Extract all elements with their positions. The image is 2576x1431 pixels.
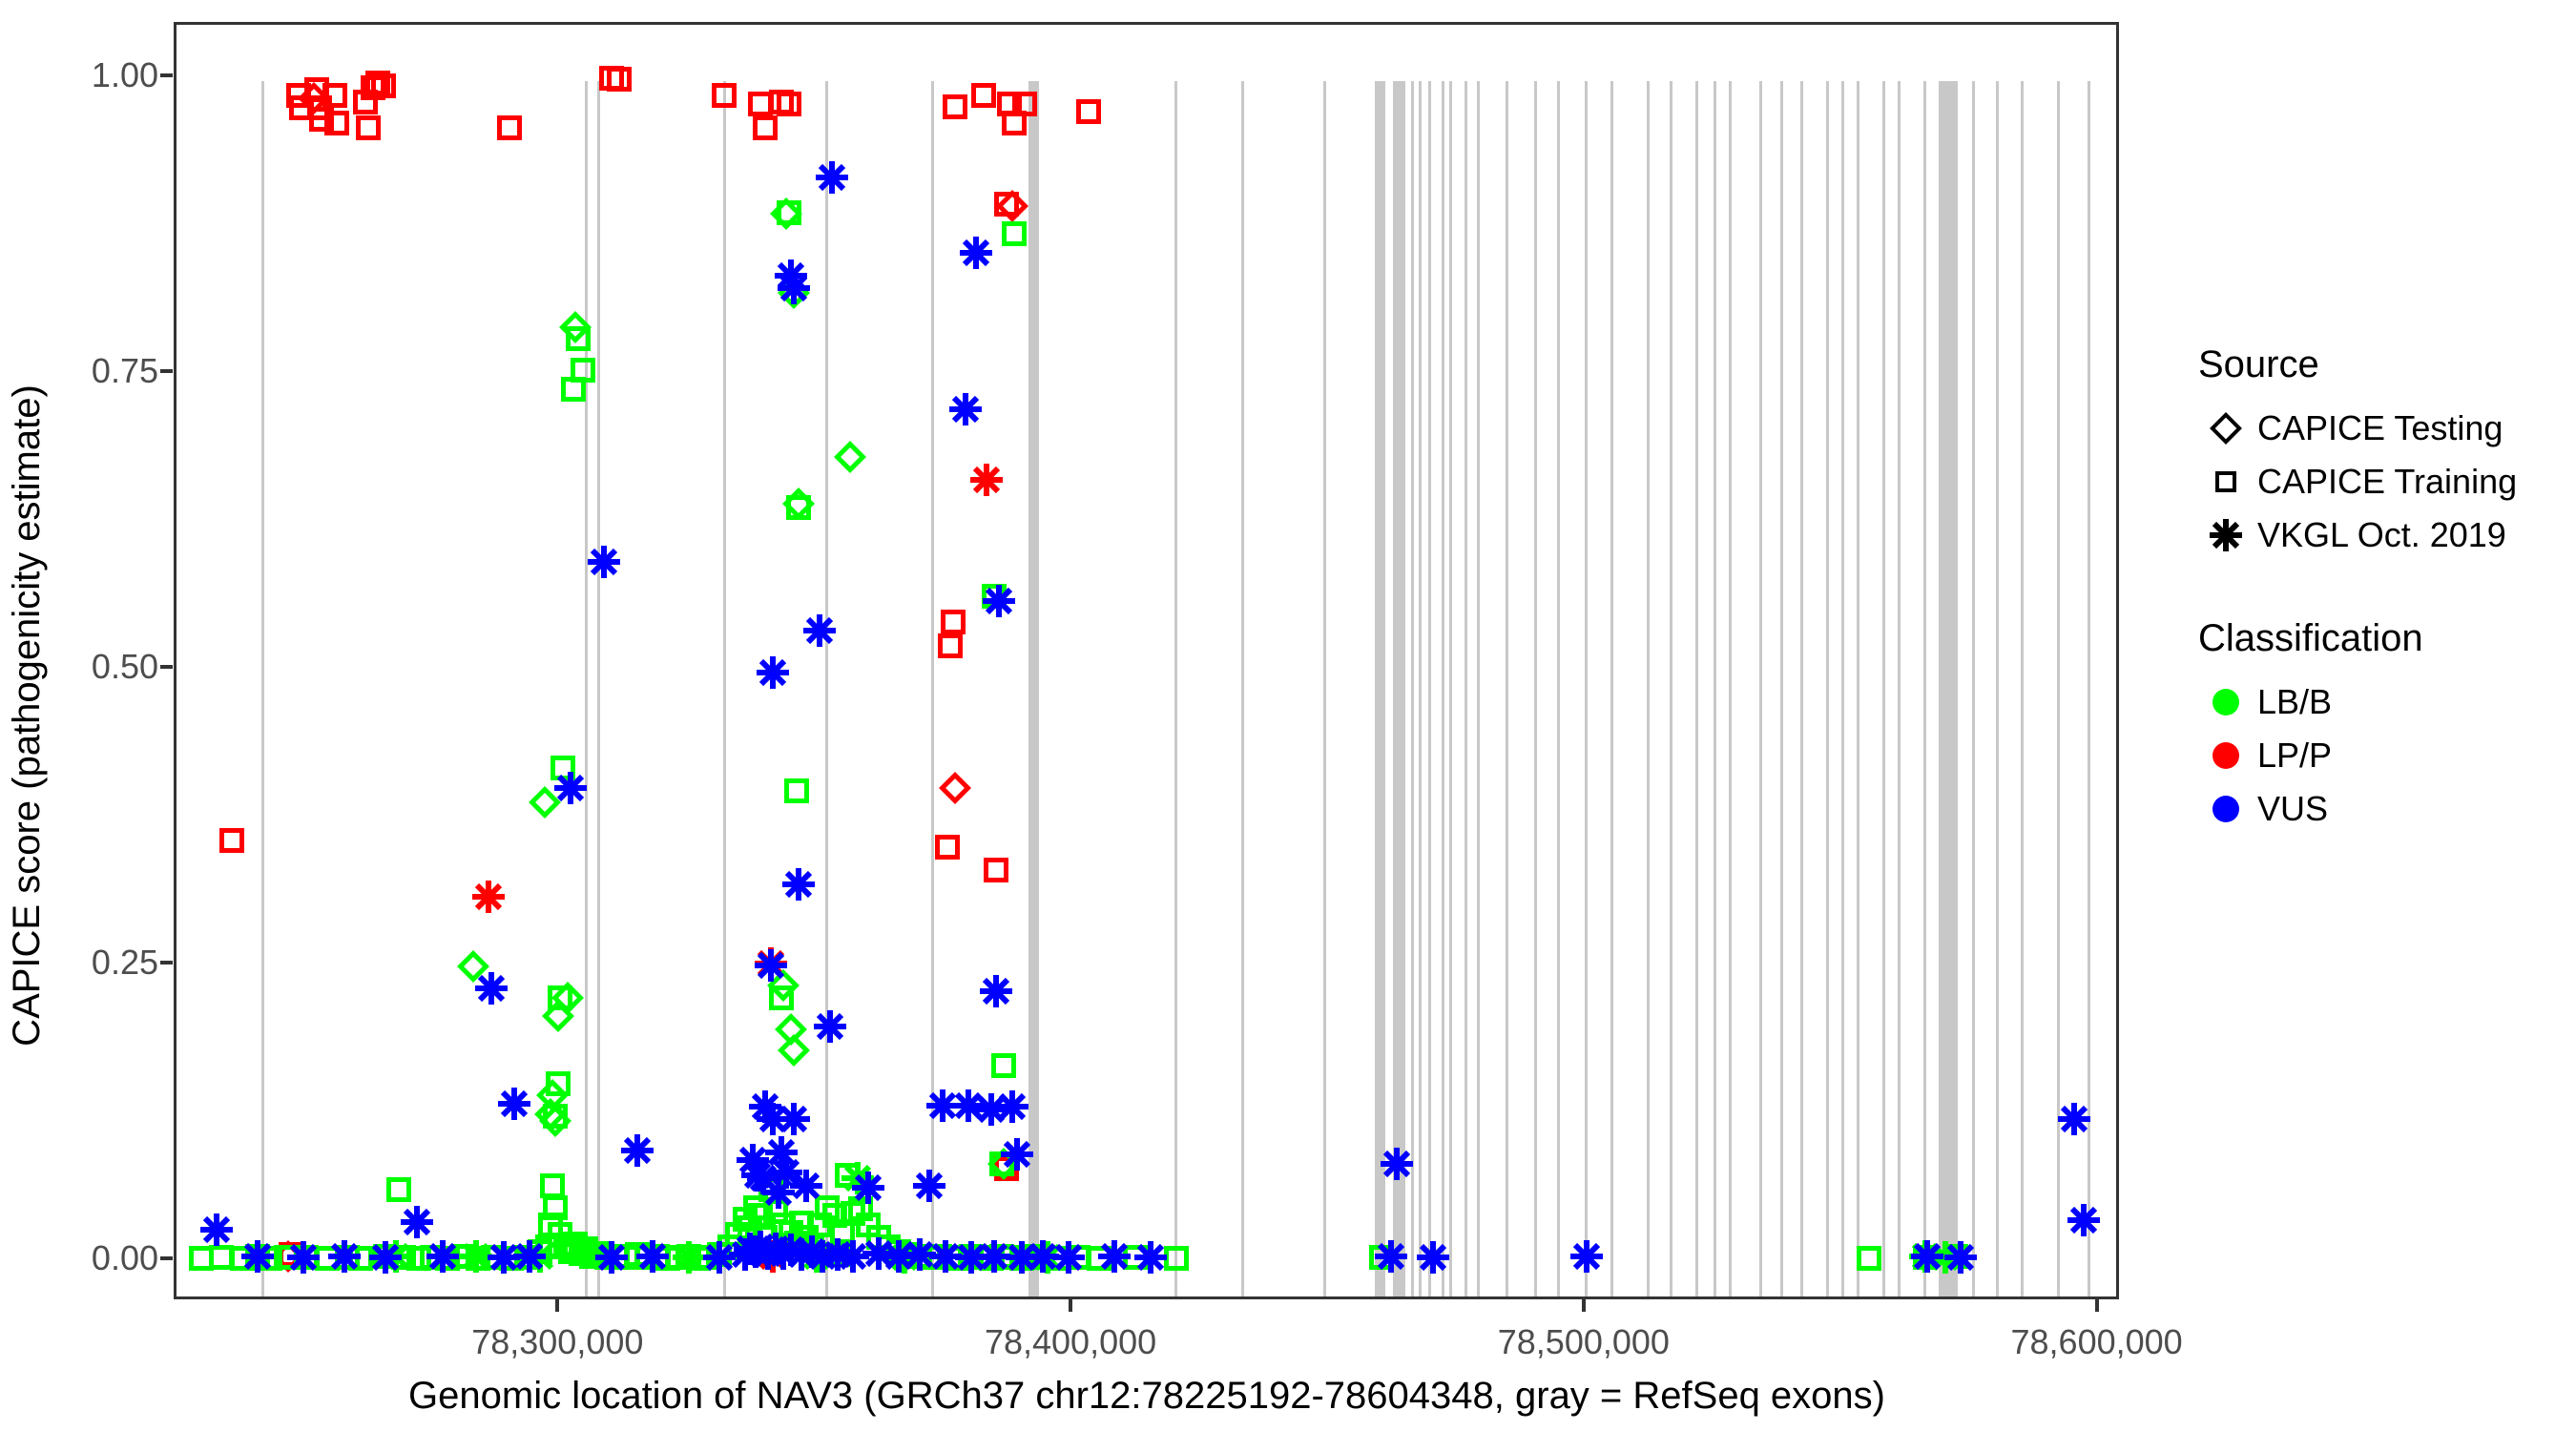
- legend-source-item-2[interactable]: VKGL Oct. 2019: [2194, 508, 2576, 562]
- scatter-point: [784, 778, 809, 803]
- scatter-point: [960, 237, 992, 269]
- y-tick-mark: [160, 665, 173, 669]
- scatter-point: [1164, 1246, 1189, 1271]
- scatter-point: [371, 73, 396, 98]
- scatter-point: [472, 881, 505, 913]
- x-tick-label: 78,300,000: [395, 1322, 719, 1362]
- scatter-point: [970, 464, 1003, 496]
- scatter-point: [2058, 1103, 2090, 1135]
- scatter-point: [757, 656, 789, 689]
- x-tick-label: 78,500,000: [1422, 1322, 1746, 1362]
- scatter-point: [996, 1090, 1028, 1123]
- y-tick-label: 0.50: [0, 647, 158, 685]
- legend-item-label: VKGL Oct. 2019: [2257, 515, 2506, 555]
- scatter-point: [803, 614, 836, 647]
- scatter-point: [983, 585, 1015, 617]
- chart-figure: CAPICE score (pathogenicity estimate) Ge…: [0, 0, 2576, 1431]
- scatter-point: [762, 1176, 795, 1209]
- legend-item-label: LP/P: [2257, 736, 2332, 776]
- dot-icon: [2194, 675, 2257, 729]
- x-tick-label: 78,600,000: [1935, 1322, 2259, 1362]
- scatter-point: [588, 546, 620, 578]
- scatter-point: [814, 1010, 846, 1043]
- x-tick-mark: [1582, 1299, 1586, 1312]
- scatter-point: [475, 972, 508, 1005]
- scatter-point: [1098, 1240, 1131, 1273]
- y-tick-mark: [160, 1256, 173, 1260]
- scatter-point: [241, 1240, 274, 1273]
- legend-classification-items: LB/BLP/PVUS: [2194, 675, 2576, 836]
- scatter-point: [984, 858, 1008, 882]
- scatter-point: [943, 94, 967, 119]
- diamond-outline-icon: [2194, 402, 2257, 455]
- scatter-point: [913, 1170, 945, 1202]
- scatter-point: [595, 1241, 628, 1274]
- x-tick-mark: [1069, 1299, 1072, 1312]
- y-axis-title: CAPICE score (pathogenicity estimate): [0, 0, 53, 1431]
- scatter-point: [513, 1240, 546, 1273]
- scatter-point: [782, 868, 815, 901]
- scatter-point: [1911, 1240, 1943, 1273]
- y-tick-label: 0.00: [0, 1238, 158, 1276]
- scatter-point: [561, 377, 586, 402]
- scatter-point: [778, 272, 810, 304]
- scatter-point: [1134, 1241, 1167, 1274]
- scatter-point: [777, 92, 801, 116]
- scatter-point: [1001, 1138, 1033, 1171]
- scatter-point: [324, 111, 349, 135]
- scatter-point: [991, 1053, 1016, 1078]
- scatter-point: [386, 1177, 411, 1202]
- scatter-point: [755, 949, 787, 982]
- scatter-point: [753, 115, 778, 140]
- scatter-point: [636, 1240, 669, 1273]
- scatter-point: [219, 828, 244, 853]
- legend-item-label: LB/B: [2257, 682, 2332, 722]
- scatter-point: [621, 1134, 654, 1167]
- scatter-point: [2067, 1204, 2100, 1236]
- legend-item-label: CAPICE Testing: [2257, 408, 2503, 448]
- scatter-point: [778, 1034, 810, 1067]
- legend-classification-item-1[interactable]: LP/P: [2194, 729, 2576, 782]
- scatter-point: [673, 1241, 705, 1274]
- legend: Source CAPICE TestingCAPICE TrainingVKGL…: [2194, 343, 2576, 836]
- x-tick-mark: [2095, 1299, 2099, 1312]
- scatter-point: [1570, 1240, 1603, 1273]
- x-tick-mark: [555, 1299, 559, 1312]
- legend-item-label: CAPICE Training: [2257, 462, 2517, 502]
- x-tick-label: 78,400,000: [908, 1322, 1233, 1362]
- scatter-point: [712, 83, 737, 108]
- legend-classification-title: Classification: [2198, 617, 2576, 660]
- legend-classification-item-0[interactable]: LB/B: [2194, 675, 2576, 729]
- scatter-point: [1375, 1240, 1407, 1273]
- scatter-point: [1381, 1148, 1413, 1180]
- scatter-point: [980, 975, 1012, 1007]
- legend-spacer: [2194, 562, 2576, 617]
- scatter-point: [1417, 1241, 1449, 1274]
- scatter-point: [938, 633, 963, 658]
- y-tick-mark: [160, 961, 173, 964]
- scatter-point: [497, 115, 522, 140]
- y-tick-label: 0.25: [0, 943, 158, 981]
- scatter-point: [834, 441, 866, 473]
- y-tick-mark: [160, 73, 173, 77]
- scatter-point: [1944, 1241, 1977, 1274]
- scatter-point: [971, 83, 996, 108]
- scatter-point: [941, 610, 966, 634]
- x-axis-title: Genomic location of NAV3 (GRCh37 chr12:7…: [174, 1370, 2120, 1421]
- scatter-point: [607, 67, 632, 92]
- scatter-point: [356, 115, 381, 140]
- y-tick-mark: [160, 369, 173, 373]
- scatter-point: [949, 393, 982, 425]
- scatter-point: [554, 772, 587, 804]
- scatter-point: [543, 1195, 568, 1220]
- scatter-point: [1052, 1241, 1085, 1274]
- y-tick-label: 1.00: [0, 55, 158, 93]
- scatter-points-layer: [177, 25, 2116, 1296]
- dot-icon: [2194, 782, 2257, 836]
- dot-icon: [2194, 729, 2257, 782]
- scatter-point: [401, 1206, 433, 1238]
- legend-source-item-1[interactable]: CAPICE Training: [2194, 455, 2576, 508]
- scatter-point: [1012, 92, 1037, 116]
- legend-item-label: VUS: [2257, 789, 2328, 829]
- scatter-point: [939, 772, 971, 804]
- square-outline-icon: [2194, 455, 2257, 508]
- scatter-point: [935, 835, 960, 860]
- legend-source-items: CAPICE TestingCAPICE TrainingVKGL Oct. 2…: [2194, 402, 2576, 562]
- scatter-point: [328, 1240, 361, 1273]
- scatter-point: [790, 1170, 822, 1202]
- scatter-point: [369, 1241, 402, 1274]
- legend-source-item-0[interactable]: CAPICE Testing: [2194, 402, 2576, 455]
- scatter-point: [1076, 99, 1101, 124]
- scatter-point: [778, 1103, 810, 1135]
- y-tick-label: 0.75: [0, 351, 158, 389]
- scatter-point: [200, 1213, 233, 1246]
- asterisk-icon: [2194, 508, 2257, 562]
- scatter-point: [287, 1241, 320, 1274]
- scatter-point: [1002, 221, 1027, 246]
- scatter-point: [816, 161, 848, 194]
- plot-panel: [174, 22, 2119, 1299]
- legend-source-title: Source: [2198, 343, 2576, 386]
- scatter-point: [1857, 1246, 1881, 1271]
- scatter-point: [426, 1240, 459, 1273]
- scatter-point: [498, 1088, 530, 1120]
- legend-classification-item-2[interactable]: VUS: [2194, 782, 2576, 836]
- scatter-point: [852, 1172, 884, 1204]
